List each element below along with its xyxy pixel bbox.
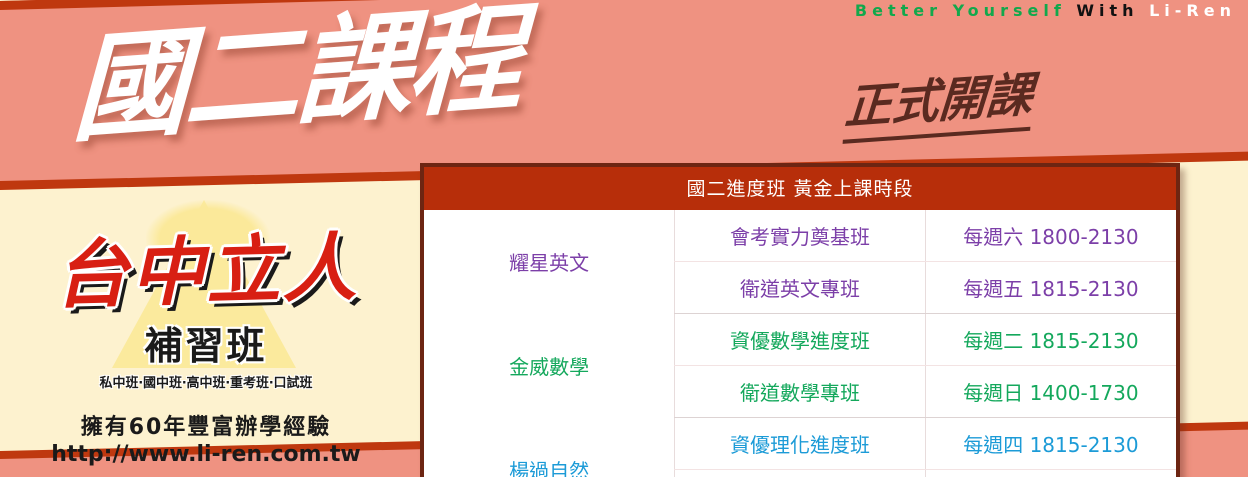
- course-cell: 衛道自然專班: [675, 470, 926, 477]
- table-row: 楊過自然 資優理化進度班 每週四 1815-2130: [424, 418, 1176, 470]
- tagline-part-3: Li-Ren: [1149, 1, 1236, 20]
- table-row: 金威數學 資優數學進度班 每週二 1815-2130: [424, 314, 1176, 366]
- time-cell: 每週四 1815-2130: [925, 418, 1176, 470]
- course-cell: 衛道英文專班: [675, 262, 926, 314]
- subject-cell: 金威數學: [424, 314, 675, 418]
- schedule-table: 國二進度班 黃金上課時段 耀星英文 會考實力奠基班 每週六 1800-2130 …: [424, 167, 1176, 477]
- headline-sub: 正式開課: [843, 55, 1036, 144]
- time-cell: 每週六 1800-2130: [925, 210, 1176, 262]
- time-cell: 每週日 1400-1730: [925, 366, 1176, 418]
- tagline-part-1: Better Yourself: [855, 1, 1066, 20]
- brand-tagline: Better Yourself With Li-Ren: [855, 1, 1236, 20]
- course-cell: 資優數學進度班: [675, 314, 926, 366]
- logo-school-name: 台中立人: [25, 207, 388, 323]
- table-row: 耀星英文 會考實力奠基班 每週六 1800-2130: [424, 210, 1176, 262]
- time-cell: 每週二 1815-2130: [925, 314, 1176, 366]
- subject-cell: 楊過自然: [424, 418, 675, 477]
- schedule-table-container: 國二進度班 黃金上課時段 耀星英文 會考實力奠基班 每週六 1800-2130 …: [420, 163, 1180, 477]
- course-cell: 資優理化進度班: [675, 418, 926, 470]
- time-cell: 每週日 0900-1230: [925, 470, 1176, 477]
- course-cell: 會考實力奠基班: [675, 210, 926, 262]
- time-cell: 每週五 1815-2130: [925, 262, 1176, 314]
- logo-experience: 擁有60年豐富辦學經驗: [26, 409, 386, 441]
- logo-website-url[interactable]: http://www.li-ren.com.tw: [26, 442, 386, 467]
- table-header-title: 國二進度班 黃金上課時段: [424, 167, 1176, 210]
- subject-cell: 耀星英文: [424, 210, 675, 314]
- table-header-row: 國二進度班 黃金上課時段: [424, 167, 1176, 210]
- promo-banner: Better Yourself With Li-Ren 國二課程 正式開課 台中…: [0, 0, 1248, 477]
- course-cell: 衛道數學專班: [675, 366, 926, 418]
- headline-main: 國二課程: [71, 0, 521, 149]
- tagline-part-2: With: [1076, 1, 1138, 20]
- school-logo: 台中立人 補習班 私中班‧國中班‧高中班‧重考班‧口試班 擁有60年豐富辦學經驗…: [26, 196, 386, 436]
- logo-class-tags: 私中班‧國中班‧高中班‧重考班‧口試班: [26, 372, 386, 391]
- logo-school-type: 補習班: [26, 315, 386, 370]
